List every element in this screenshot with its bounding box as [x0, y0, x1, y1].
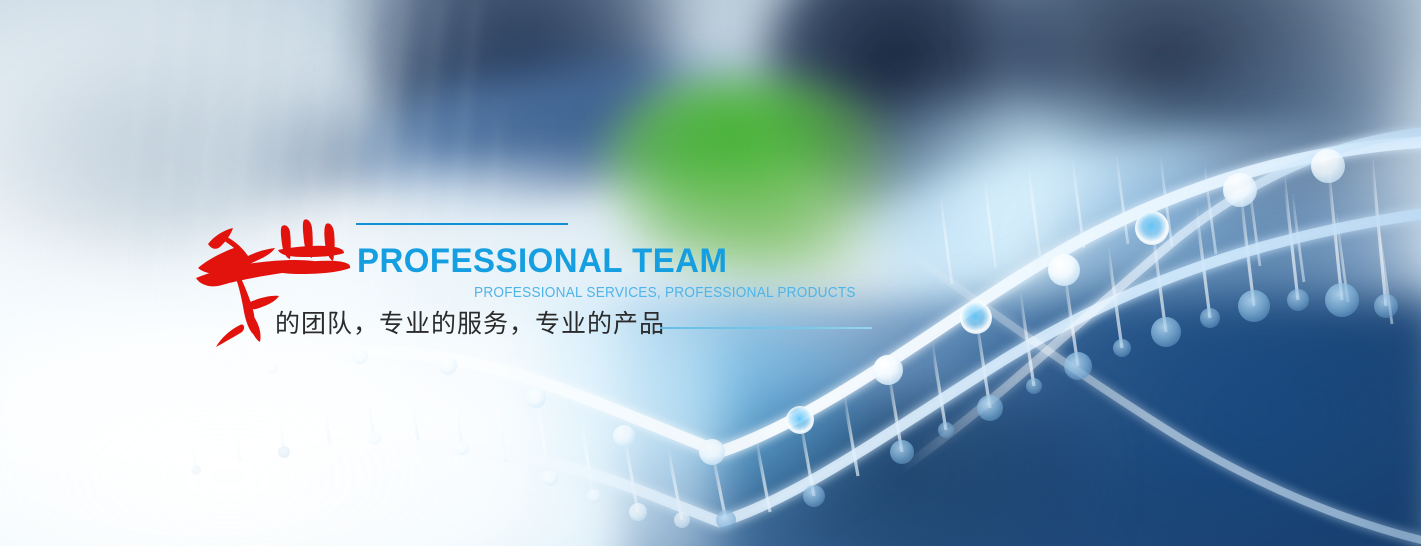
- hero-text-block: 专业 PROFESSIONAL TEAM PROFESSIONAL SERVI: [0, 0, 1421, 546]
- subtitle-english: PROFESSIONAL SERVICES, PROFESSIONAL PROD…: [474, 286, 856, 301]
- hero-banner: 专业 PROFESSIONAL TEAM PROFESSIONAL SERVI: [0, 0, 1421, 546]
- decorative-rule-top: [356, 223, 568, 225]
- page-title: PROFESSIONAL TEAM: [357, 244, 727, 278]
- decorative-rule-bottom: [660, 327, 872, 329]
- subtitle-chinese: 的团队，专业的服务，专业的产品: [275, 307, 665, 341]
